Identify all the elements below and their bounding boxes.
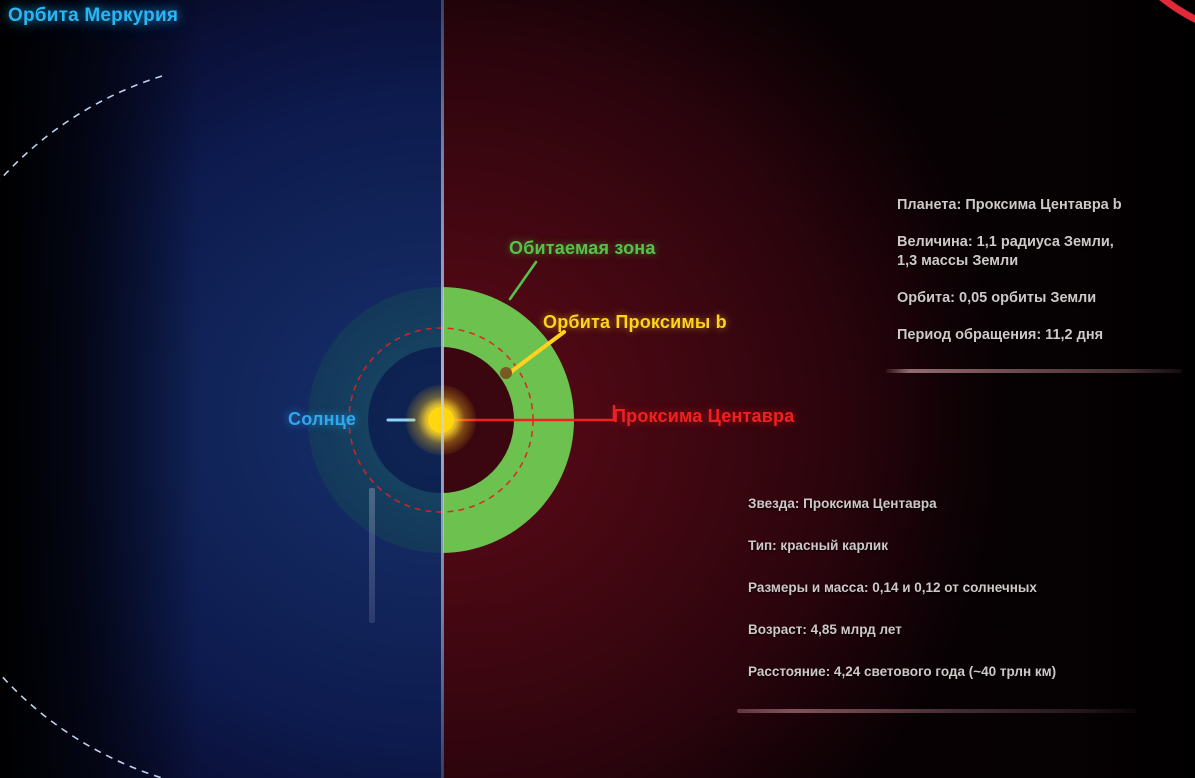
label-proxima-centauri: Проксима Центавра xyxy=(613,406,794,427)
label-proxima-b-orbit: Орбита Проксимы b xyxy=(543,312,727,333)
star-info-panel: Звезда: Проксима Центавра Тип: красный к… xyxy=(748,495,1056,681)
planet-info-row: Орбита: 0,05 орбиты Земли xyxy=(897,289,1122,308)
planet-info-row: Величина: 1,1 радиуса Земли, 1,3 массы З… xyxy=(897,233,1122,271)
star-info-row: Тип: красный карлик xyxy=(748,537,1056,555)
planet-info-row: Планета: Проксима Центавра b xyxy=(897,196,1122,215)
star-panel-divider xyxy=(737,709,1137,713)
label-sun: Солнце xyxy=(288,409,356,430)
label-habitable-zone: Обитаемая зона xyxy=(509,238,656,259)
planet-info-panel: Планета: Проксима Центавра b Величина: 1… xyxy=(897,196,1122,345)
star-info-row: Размеры и масса: 0,14 и 0,12 от солнечны… xyxy=(748,579,1056,597)
page-title-mercury-orbit: Орбита Меркурия xyxy=(8,5,178,27)
infographic-canvas: Орбита Меркурия Обитаемая зона Орбита Пр… xyxy=(0,0,1195,778)
star-info-row: Возраст: 4,85 млрд лет xyxy=(748,621,1056,639)
vertical-scale-bar xyxy=(369,488,375,623)
planet-info-row: Период обращения: 11,2 дня xyxy=(897,326,1122,345)
center-divider-line xyxy=(441,0,444,778)
star-info-row: Звезда: Проксима Центавра xyxy=(748,495,1056,513)
planet-panel-divider xyxy=(886,369,1182,373)
star-info-row: Расстояние: 4,24 светового года (~40 трл… xyxy=(748,663,1056,681)
